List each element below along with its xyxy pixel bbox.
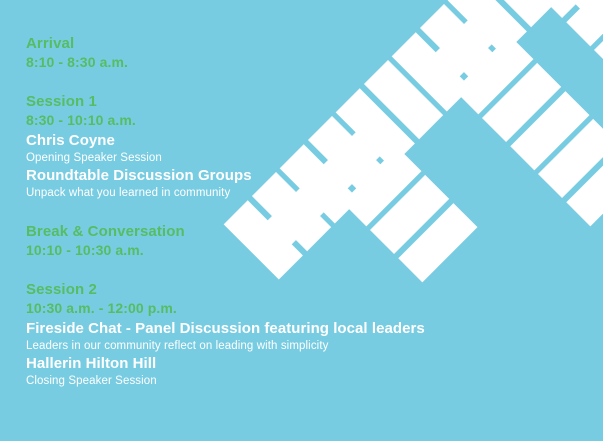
agenda-slide: Arrival 8:10 - 8:30 a.m. Session 1 8:30 … xyxy=(0,0,603,441)
agenda-items: Chris Coyne Opening Speaker Session Roun… xyxy=(26,132,603,202)
item-subtitle: Opening Speaker Session xyxy=(26,150,603,167)
block-time: 8:30 - 10:10 a.m. xyxy=(26,111,603,130)
agenda-items: Fireside Chat - Panel Discussion featuri… xyxy=(26,320,603,390)
item-subtitle: Unpack what you learned in community xyxy=(26,185,603,202)
item-subtitle: Closing Speaker Session xyxy=(26,373,603,390)
item-title: Roundtable Discussion Groups xyxy=(26,167,603,185)
agenda-list: Arrival 8:10 - 8:30 a.m. Session 1 8:30 … xyxy=(0,0,603,390)
block-title: Break & Conversation xyxy=(26,222,603,241)
agenda-item: Chris Coyne Opening Speaker Session xyxy=(26,132,603,167)
block-title: Session 2 xyxy=(26,280,603,299)
item-title: Hallerin Hilton Hill xyxy=(26,355,603,373)
block-title: Arrival xyxy=(26,34,603,53)
agenda-block: Session 1 8:30 - 10:10 a.m. Chris Coyne … xyxy=(26,92,603,202)
agenda-block: Arrival 8:10 - 8:30 a.m. xyxy=(26,34,603,72)
block-time: 10:30 a.m. - 12:00 p.m. xyxy=(26,299,603,318)
agenda-block: Break & Conversation 10:10 - 10:30 a.m. xyxy=(26,222,603,260)
block-time: 8:10 - 8:30 a.m. xyxy=(26,53,603,72)
agenda-block: Session 2 10:30 a.m. - 12:00 p.m. Firesi… xyxy=(26,280,603,390)
block-time: 10:10 - 10:30 a.m. xyxy=(26,241,603,260)
item-title: Chris Coyne xyxy=(26,132,603,150)
item-title: Fireside Chat - Panel Discussion featuri… xyxy=(26,320,603,338)
block-title: Session 1 xyxy=(26,92,603,111)
agenda-item: Roundtable Discussion Groups Unpack what… xyxy=(26,167,603,202)
item-subtitle: Leaders in our community reflect on lead… xyxy=(26,338,603,355)
agenda-item: Fireside Chat - Panel Discussion featuri… xyxy=(26,320,603,355)
agenda-item: Hallerin Hilton Hill Closing Speaker Ses… xyxy=(26,355,603,390)
